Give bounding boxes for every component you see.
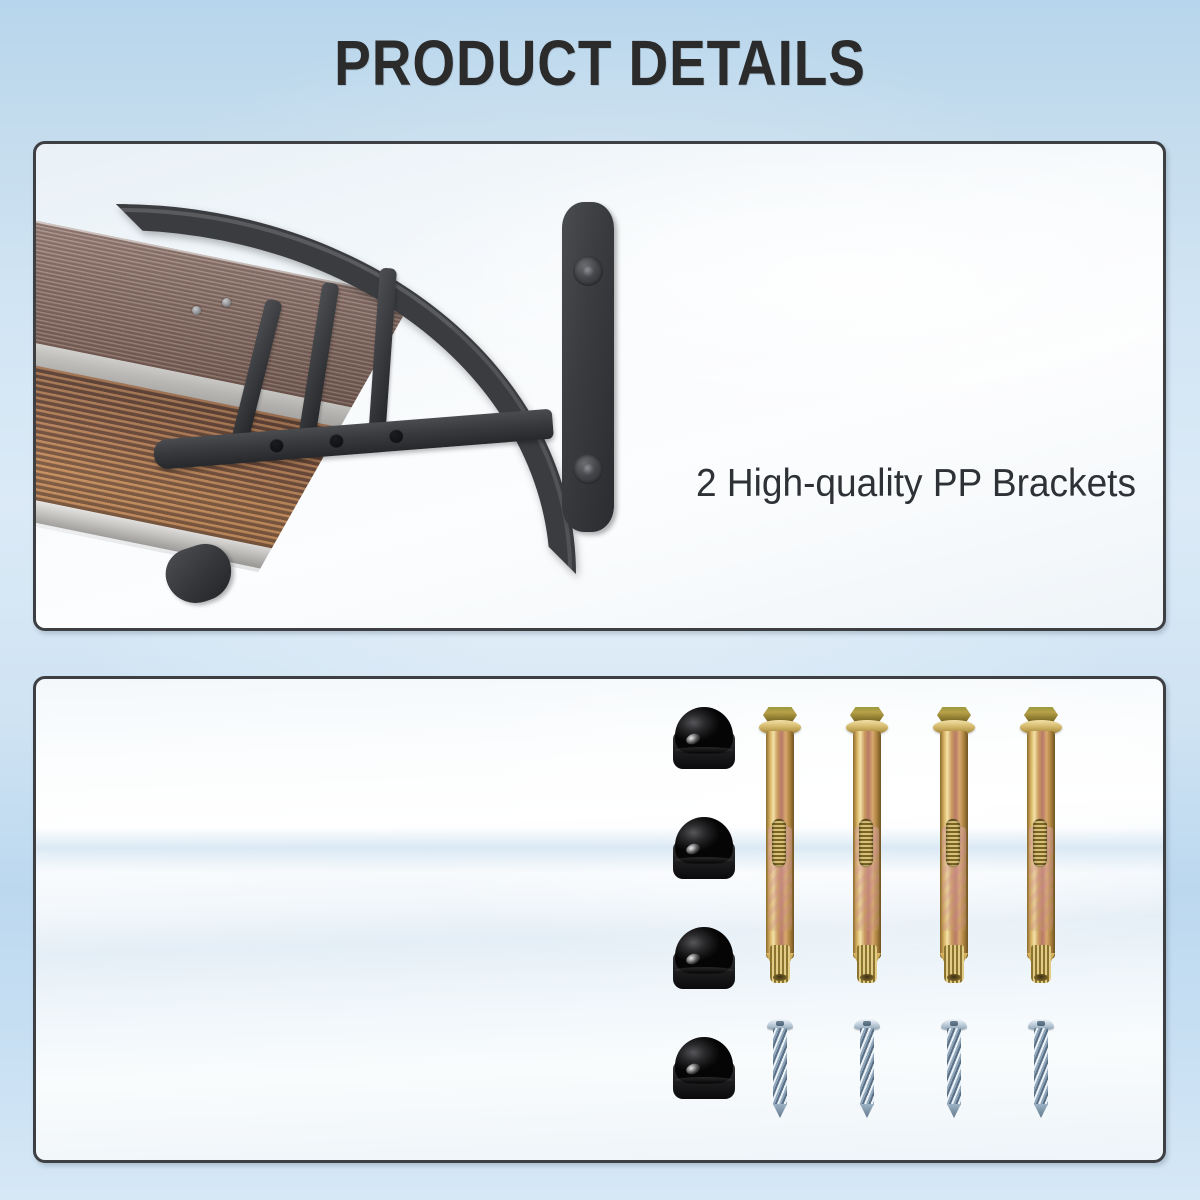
caption-brackets: 2 High-quality PP Brackets bbox=[696, 460, 1136, 508]
screw-threaded-shank bbox=[860, 1028, 874, 1106]
panel-accessory: Accessory Included bbox=[33, 676, 1166, 1163]
panel-brackets: 2 High-quality PP Brackets bbox=[33, 141, 1166, 631]
anchor-expansion-slot bbox=[859, 819, 873, 867]
cap-rim bbox=[674, 857, 734, 864]
black-dome-cap bbox=[673, 927, 735, 989]
screw-tip bbox=[773, 1104, 787, 1118]
screw-tip bbox=[860, 1104, 874, 1118]
arm-fixing-screw-1 bbox=[192, 306, 201, 315]
anchor-expansion-slot bbox=[1033, 819, 1047, 867]
accessory-hardware-image bbox=[36, 679, 1163, 1160]
screw-threaded-shank bbox=[947, 1028, 961, 1106]
strut-hole-1 bbox=[269, 438, 284, 453]
anchor-threaded-tip bbox=[1031, 945, 1051, 983]
self-tapping-screw bbox=[854, 1019, 880, 1117]
screw-threaded-shank bbox=[773, 1028, 787, 1106]
cap-rim bbox=[674, 1077, 734, 1084]
bracket-wall-plate bbox=[562, 202, 614, 532]
anchor-expansion-slot bbox=[946, 819, 960, 867]
screw-tip bbox=[947, 1104, 961, 1118]
black-dome-cap bbox=[673, 707, 735, 769]
strut-hole-2 bbox=[329, 433, 344, 448]
backdrop-horizon-band bbox=[36, 827, 1163, 873]
pp-support-bracket bbox=[96, 194, 616, 614]
cap-rim bbox=[674, 967, 734, 974]
bracket-arm-highlight bbox=[120, 208, 572, 570]
screw-threaded-shank bbox=[1034, 1028, 1048, 1106]
strut-hole-3 bbox=[389, 428, 404, 443]
anchor-threaded-tip bbox=[857, 945, 877, 983]
product-details-page: PRODUCT DETAILS bbox=[0, 0, 1200, 1200]
expansion-anchor-bolt bbox=[933, 707, 975, 983]
page-title: PRODUCT DETAILS bbox=[84, 28, 1116, 98]
cap-rim bbox=[674, 747, 734, 754]
wall-plate-mounting-boss-top bbox=[573, 256, 603, 286]
black-dome-cap bbox=[673, 817, 735, 879]
expansion-anchor-bolt bbox=[846, 707, 888, 983]
expansion-anchor-bolt bbox=[759, 707, 801, 983]
arm-fixing-screw-2 bbox=[222, 298, 231, 307]
awning-with-bracket-image bbox=[36, 144, 636, 628]
black-dome-cap bbox=[673, 1037, 735, 1099]
self-tapping-screw bbox=[1028, 1019, 1054, 1117]
screw-tip bbox=[1034, 1104, 1048, 1118]
expansion-anchor-bolt bbox=[1020, 707, 1062, 983]
self-tapping-screw bbox=[941, 1019, 967, 1117]
anchor-expansion-slot bbox=[772, 819, 786, 867]
self-tapping-screw bbox=[767, 1019, 793, 1117]
anchor-threaded-tip bbox=[770, 945, 790, 983]
anchor-threaded-tip bbox=[944, 945, 964, 983]
wall-plate-mounting-boss-bottom bbox=[573, 454, 603, 484]
